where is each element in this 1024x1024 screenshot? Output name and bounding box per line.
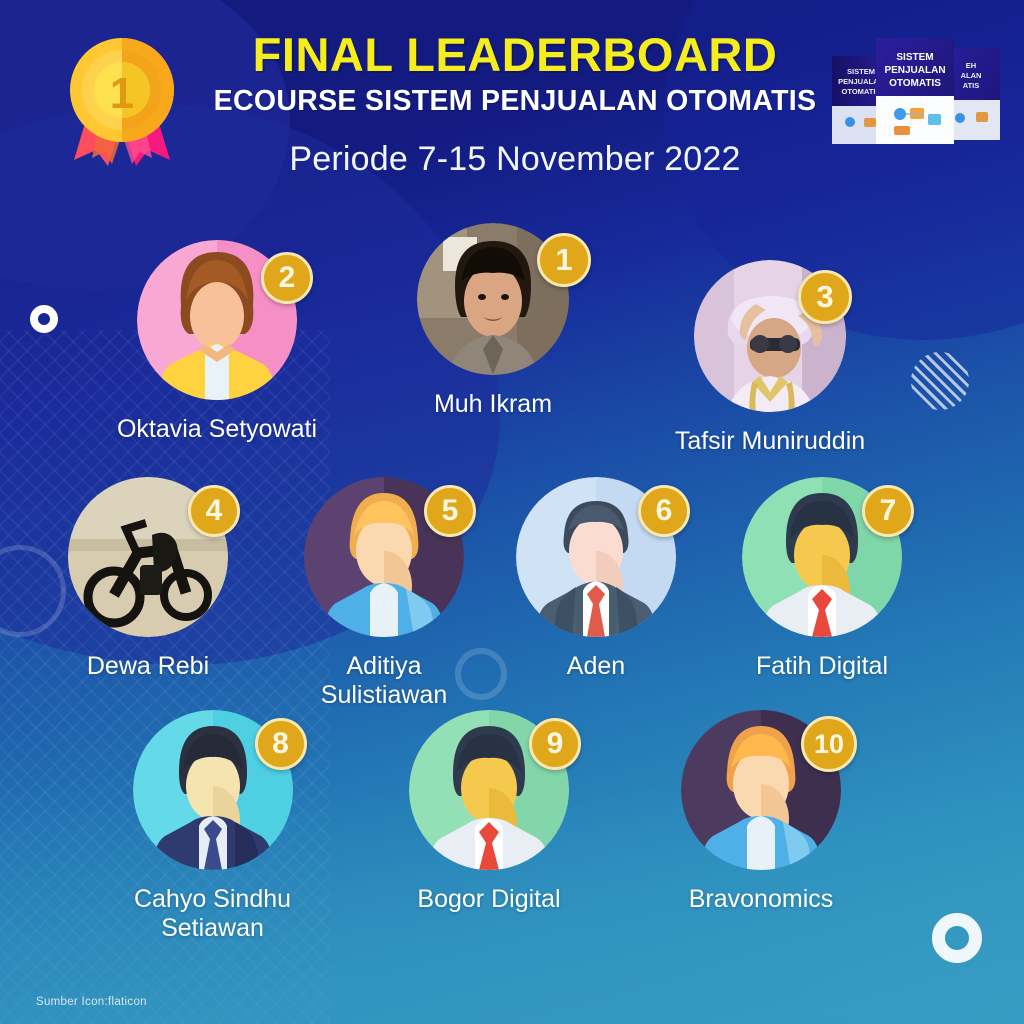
rank-badge: 2	[261, 252, 313, 304]
player-name: Fatih Digital	[738, 652, 906, 681]
rank-badge: 10	[801, 716, 857, 772]
leaderboard-entry[interactable]: 4 Dewa Rebi	[68, 477, 228, 681]
svg-text:ATIS: ATIS	[963, 81, 980, 90]
player-name: Muh Ikram	[393, 390, 593, 419]
leaderboard-entry[interactable]: 9 Bogor Digital	[405, 710, 573, 914]
player-name: Dewa Rebi	[68, 652, 228, 681]
page-subtitle: ECOURSE SISTEM PENJUALAN OTOMATIS	[185, 85, 845, 118]
svg-text:SISTEM: SISTEM	[847, 67, 875, 76]
player-name: Cahyo Sindhu Setiawan	[125, 885, 300, 943]
medal-number: 1	[110, 69, 134, 118]
rank-badge: 3	[798, 270, 852, 324]
player-name: Bogor Digital	[405, 885, 573, 914]
player-name: Oktavia Setyowati	[92, 415, 342, 444]
leaderboard-entry[interactable]: 3 Tafsir Muniruddin	[655, 260, 885, 456]
rank-badge: 6	[638, 485, 690, 537]
svg-text:SISTEM: SISTEM	[896, 52, 933, 63]
period-label: Periode 7-15 November 2022	[185, 140, 845, 179]
leaderboard-grid: 2 Oktavia Setyowati	[0, 205, 1024, 975]
page-title: FINAL LEADERBOARD	[185, 30, 845, 79]
poster-header: 1 FINAL LEADERBOARD ECOURSE SISTEM PENJU…	[0, 0, 1024, 200]
leaderboard-entry[interactable]: 5 Aditiya Sulistiawan	[300, 477, 468, 710]
leaderboard-entry[interactable]: 6 Aden	[516, 477, 676, 681]
product-box-stack-image: EH ALAN ATIS SISTEM PENJUALAN OTOMATIS	[820, 26, 1016, 154]
rank-badge: 7	[862, 485, 914, 537]
player-name: Bravonomics	[677, 885, 845, 914]
svg-text:OTOMATIS: OTOMATIS	[889, 78, 941, 89]
source-credit: Sumber Icon:flaticon	[36, 996, 147, 1008]
leaderboard-entry[interactable]: 2 Oktavia Setyowati	[92, 240, 342, 444]
leaderboard-entry[interactable]: 7 Fatih Digital	[738, 477, 906, 681]
player-name: Aden	[516, 652, 676, 681]
svg-text:OTOMATIS: OTOMATIS	[842, 87, 881, 96]
title-block: FINAL LEADERBOARD ECOURSE SISTEM PENJUAL…	[185, 30, 845, 179]
leaderboard-entry[interactable]: 8 Cahyo Sindhu Setiawan	[125, 710, 300, 943]
rank-badge: 1	[537, 233, 591, 287]
leaderboard-entry[interactable]: 10 Bravonomics	[677, 710, 845, 914]
svg-text:EH: EH	[966, 61, 976, 70]
leaderboard-poster: 1 FINAL LEADERBOARD ECOURSE SISTEM PENJU…	[0, 0, 1024, 1024]
player-name: Tafsir Muniruddin	[655, 427, 885, 456]
svg-text:PENJUALAN: PENJUALAN	[884, 65, 945, 76]
rank-badge: 8	[255, 718, 307, 770]
svg-text:ALAN: ALAN	[961, 71, 982, 80]
player-name: Aditiya Sulistiawan	[300, 652, 468, 710]
rank-badge: 9	[529, 718, 581, 770]
gold-medal-ribbon-icon: 1	[52, 28, 192, 168]
rank-badge: 5	[424, 485, 476, 537]
leaderboard-entry[interactable]: 1 Muh Ikram	[393, 223, 593, 419]
rank-badge: 4	[188, 485, 240, 537]
